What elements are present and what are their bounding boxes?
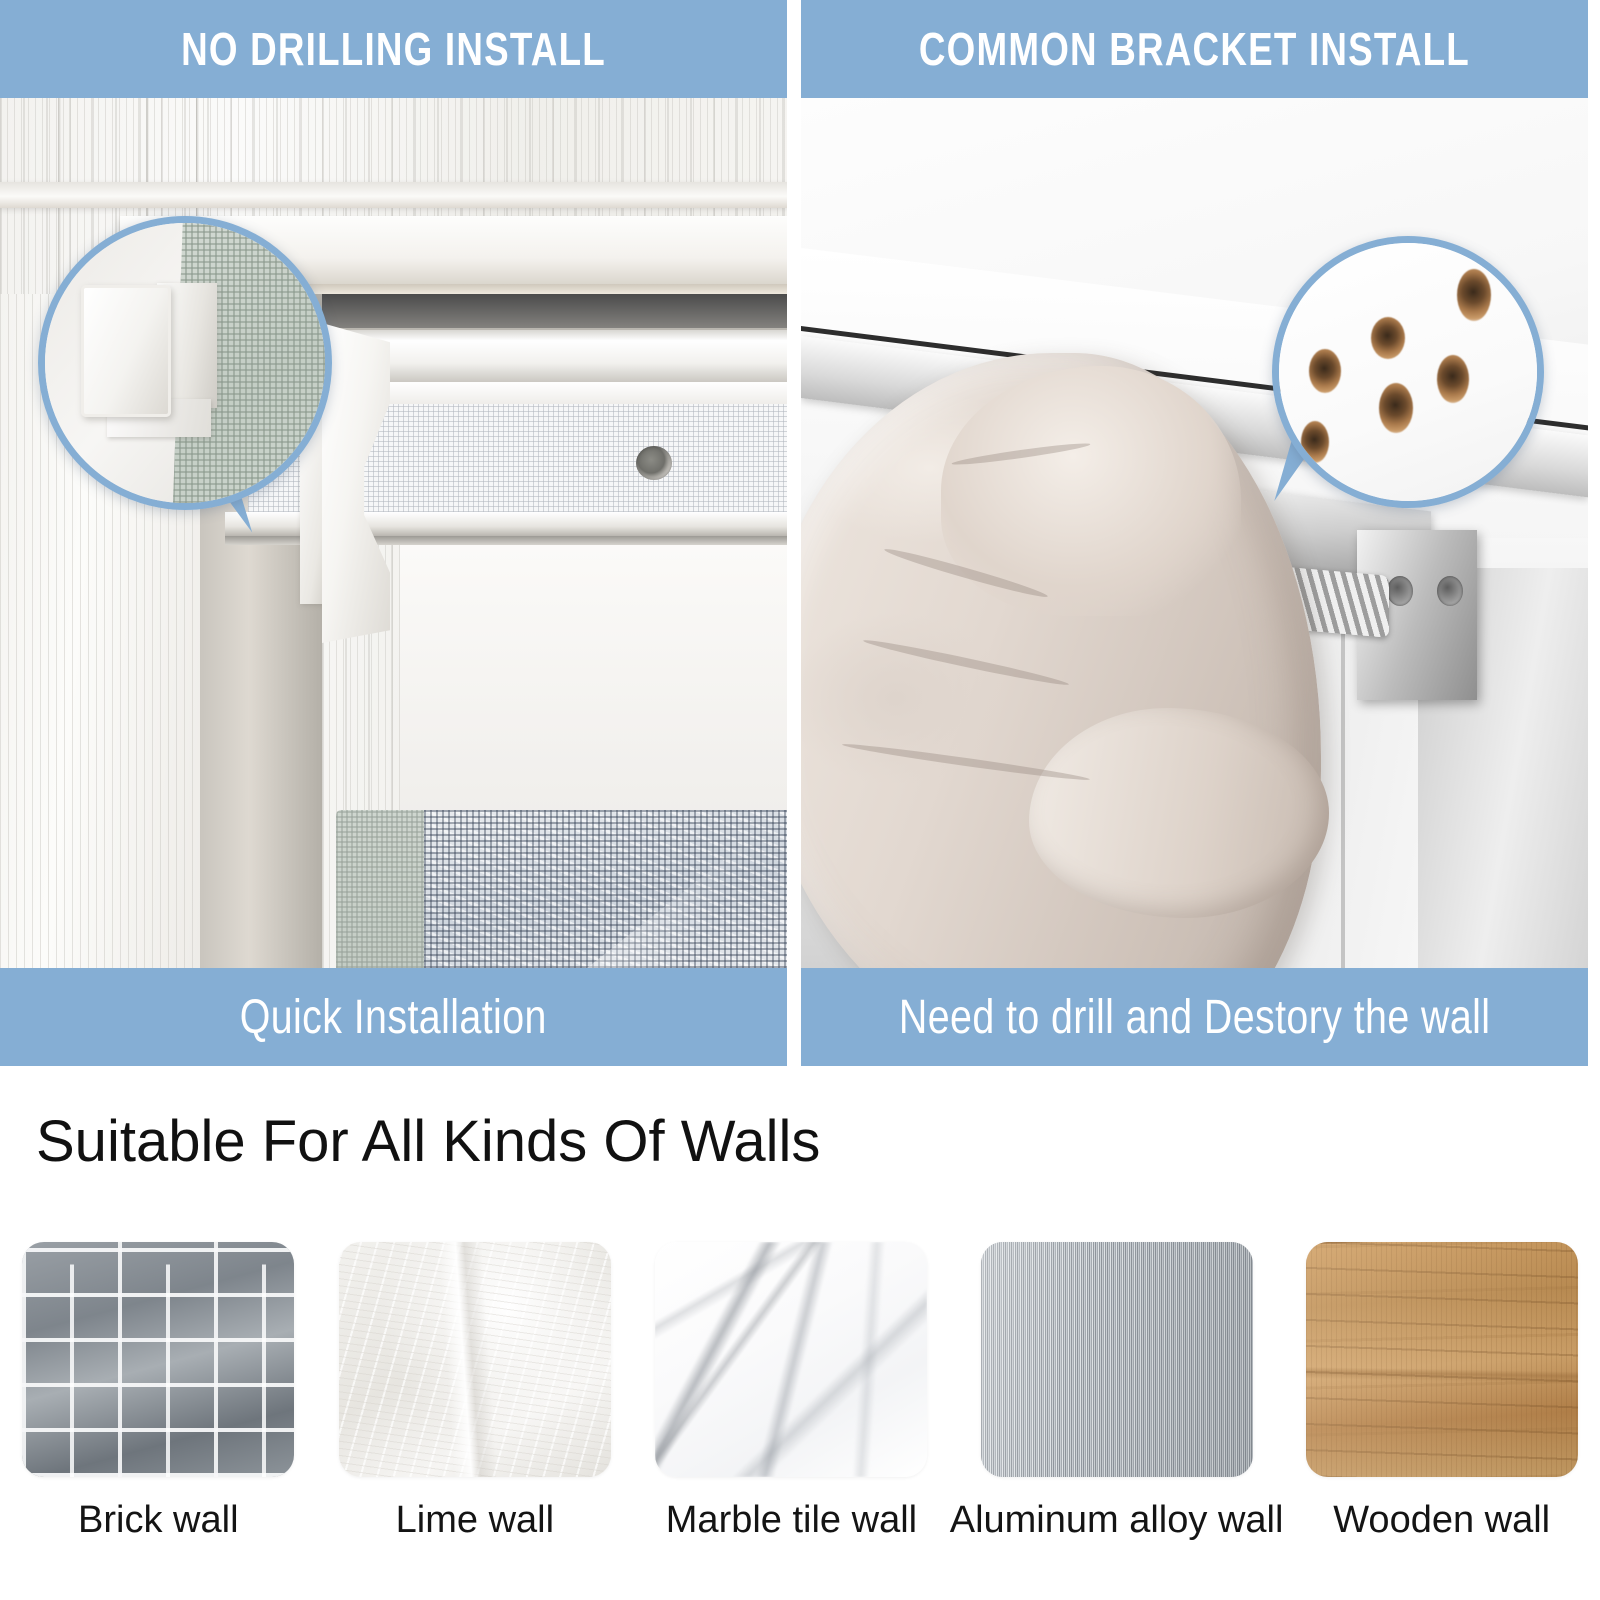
- window-trim-upper: [0, 182, 787, 208]
- panel-common-bracket-install: COMMON BRACKET INSTALL: [801, 0, 1588, 1066]
- wood-texture: [1306, 1242, 1578, 1477]
- bracket-screw-hole: [1387, 576, 1413, 606]
- left-panel-header-label: NO DRILLING INSTALL: [181, 22, 606, 76]
- drill-hole: [1379, 383, 1413, 433]
- brick-texture: [22, 1242, 294, 1477]
- screw-hole: [636, 446, 672, 480]
- swatch-tile-brick[interactable]: [22, 1242, 294, 1477]
- drill-hole: [1437, 355, 1469, 403]
- bracket-screw-hole: [1437, 576, 1463, 606]
- aluminum-texture: [981, 1242, 1253, 1477]
- wall-swatch-lime[interactable]: Lime wall: [317, 1242, 634, 1542]
- magnified-clip-pad: [81, 285, 171, 417]
- right-panel-caption-bar: Need to drill and Destory the wall: [801, 968, 1588, 1066]
- walls-section-title: Suitable For All Kinds Of Walls: [36, 1108, 820, 1175]
- swatch-label-wooden: Wooden wall: [1333, 1499, 1550, 1542]
- callout-ring: [1272, 236, 1544, 508]
- right-panel-photo: [801, 98, 1588, 968]
- swatch-label-aluminum: Aluminum alloy wall: [950, 1499, 1284, 1542]
- panel-no-drilling-install: NO DRILLING INSTALL: [0, 0, 787, 1066]
- marble-texture: [655, 1242, 927, 1477]
- hand-thumb: [1029, 708, 1329, 918]
- wall-swatch-brick[interactable]: Brick wall: [0, 1242, 317, 1542]
- swatch-label-marble: Marble tile wall: [666, 1499, 917, 1542]
- right-panel-caption-label: Need to drill and Destory the wall: [899, 990, 1491, 1045]
- wall-swatch-aluminum[interactable]: Aluminum alloy wall: [950, 1242, 1284, 1542]
- swatch-tile-aluminum[interactable]: [981, 1242, 1253, 1477]
- drill-hole: [1371, 317, 1405, 359]
- swatch-tile-marble[interactable]: [655, 1242, 927, 1477]
- left-panel-caption-label: Quick Installation: [240, 990, 547, 1045]
- left-panel-photo: [0, 98, 787, 968]
- swatch-tile-lime[interactable]: [339, 1242, 611, 1477]
- callout-ring: [38, 216, 332, 510]
- lime-texture: [339, 1242, 611, 1477]
- drill-holes-magnifier: [1272, 236, 1544, 508]
- wall-swatch-marble[interactable]: Marble tile wall: [633, 1242, 950, 1542]
- wall-swatch-row: Brick wall Lime wall Marble tile wall Al…: [0, 1242, 1600, 1542]
- infographic-page: NO DRILLING INSTALL: [0, 0, 1600, 1600]
- swatch-label-lime: Lime wall: [396, 1499, 554, 1542]
- right-panel-header-bar: COMMON BRACKET INSTALL: [801, 0, 1588, 98]
- swatch-label-brick: Brick wall: [78, 1499, 238, 1542]
- walls-section: Suitable For All Kinds Of Walls Brick wa…: [0, 1066, 1600, 1600]
- drill-hole: [1457, 269, 1491, 321]
- comparison-section: NO DRILLING INSTALL: [0, 0, 1600, 1066]
- wall-swatch-wooden[interactable]: Wooden wall: [1283, 1242, 1600, 1542]
- left-panel-caption-bar: Quick Installation: [0, 968, 787, 1066]
- gray-fabric-swatch: [336, 810, 430, 968]
- no-drill-clip-magnifier: [38, 216, 332, 510]
- drill-hole: [1309, 349, 1341, 393]
- right-panel-header-label: COMMON BRACKET INSTALL: [919, 22, 1470, 76]
- drill-hole: [1301, 421, 1329, 463]
- left-panel-header-bar: NO DRILLING INSTALL: [0, 0, 787, 98]
- swatch-tile-wooden[interactable]: [1306, 1242, 1578, 1477]
